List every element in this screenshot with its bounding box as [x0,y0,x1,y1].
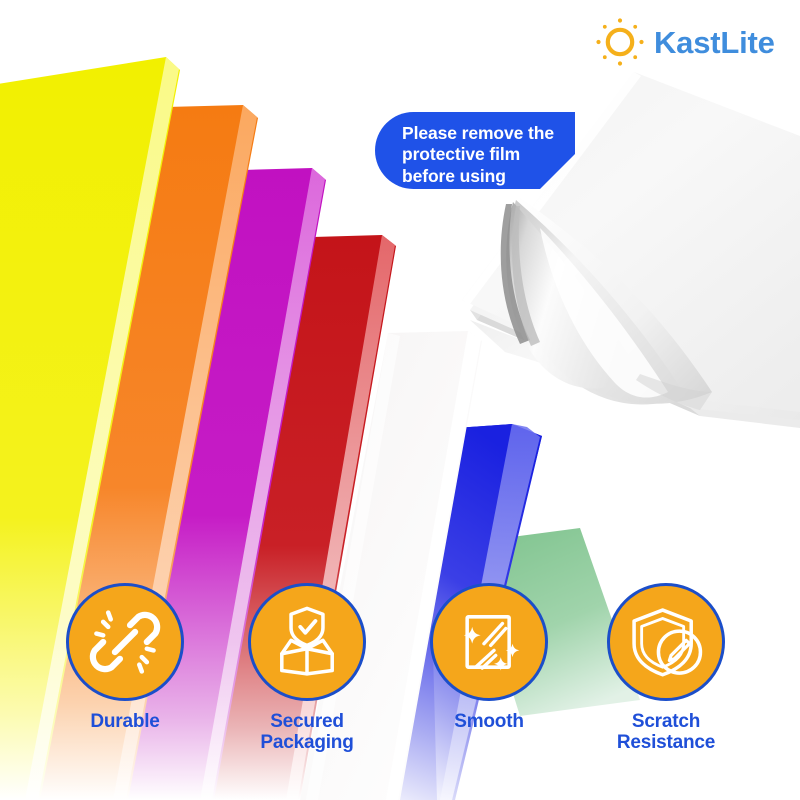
feature-label: Secured Packaging [212,711,402,754]
sun-icon [592,14,648,70]
feature-icon-circle [430,583,548,701]
shield-blade-icon [624,600,708,684]
protective-film-callout: Please remove the protective film before… [375,112,575,189]
brand-wordmark: KastLite [654,27,775,58]
brand-logo: KastLite [592,14,778,70]
feature-icon-circle [607,583,725,701]
feature-badges: Durable Secured Packaging [0,583,800,783]
feature-icon-circle [248,583,366,701]
shield-box-icon [265,600,349,684]
feature-label: Scratch Resistance [571,711,761,754]
feature-smooth[interactable]: Smooth [394,583,584,732]
feature-label: Smooth [394,711,584,732]
callout-text: Please remove the protective film before… [402,123,578,187]
feature-label: Durable [30,711,220,732]
feature-durable[interactable]: Durable [30,583,220,732]
chain-link-icon [83,600,167,684]
feature-secured-packaging[interactable]: Secured Packaging [212,583,402,754]
feature-scratch-resistance[interactable]: Scratch Resistance [571,583,761,754]
product-infographic: KastLite Please remove the protective fi… [0,0,800,800]
sparkle-panel-icon [447,600,531,684]
feature-icon-circle [66,583,184,701]
